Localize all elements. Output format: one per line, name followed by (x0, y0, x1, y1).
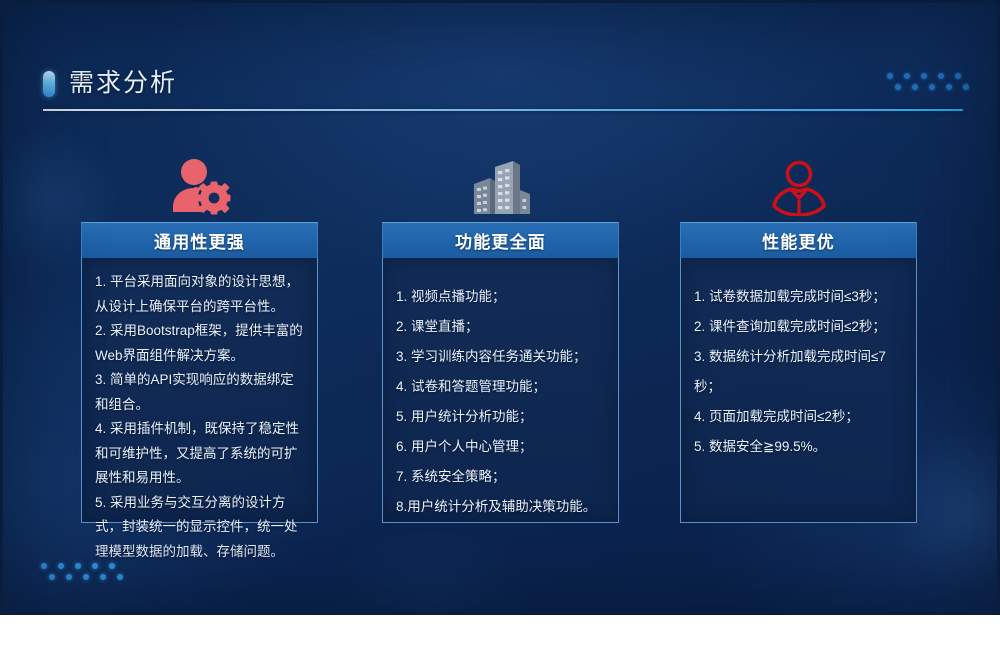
card-header: 性能更优 (680, 222, 917, 258)
card-text: 4. 采用插件机制，既保持了稳定性和可维护性，又提高了系统的可扩展性和易用性。 (95, 417, 304, 491)
card-text: 3. 简单的API实现响应的数据绑定和组合。 (95, 368, 304, 417)
decor-dot (58, 563, 64, 569)
decor-dot (41, 563, 47, 569)
decor-dot (83, 574, 89, 580)
card-text: 8.用户统计分析及辅助决策功能。 (396, 492, 605, 522)
card-body: 1. 试卷数据加载完成时间≤3秒； 2. 课件查询加载完成时间≤2秒； 3. 数… (680, 258, 917, 523)
card-text: 1. 平台采用面向对象的设计思想，从设计上确保平台的跨平台性。 (95, 270, 304, 319)
decor-dot (929, 84, 935, 90)
card-text: 5. 数据安全≧99.5%。 (694, 432, 903, 462)
card-header: 通用性更强 (81, 222, 318, 258)
card-text: 1. 视频点播功能； (396, 282, 605, 312)
card-text: 6. 用户个人中心管理； (396, 432, 605, 462)
decor-dot (117, 574, 123, 580)
decor-dot (49, 574, 55, 580)
card-text: 2. 采用Bootstrap框架，提供丰富的Web界面组件解决方案。 (95, 319, 304, 368)
card-text: 3. 数据统计分析加载完成时间≤7秒； (694, 342, 903, 402)
card-text: 4. 页面加载完成时间≤2秒； (694, 402, 903, 432)
card-text: 5. 采用业务与交互分离的设计方式，封装统一的显示控件，统一处理模型数据的加载、… (95, 491, 304, 565)
decor-dot (946, 84, 952, 90)
feature-card-generality: 通用性更强 1. 平台采用面向对象的设计思想，从设计上确保平台的跨平台性。 2.… (81, 222, 318, 523)
dot-grid-bottom-left (41, 563, 127, 585)
decor-dot (66, 574, 72, 580)
slide-canvas: 需求分析 (0, 0, 1000, 615)
decor-dot (955, 73, 961, 79)
card-title: 功能更全面 (455, 228, 546, 253)
decor-dot (938, 73, 944, 79)
header-divider (43, 109, 963, 111)
card-title: 性能更优 (762, 228, 835, 253)
card-title: 通用性更强 (154, 228, 245, 253)
card-text: 7. 系统安全策略； (396, 462, 605, 492)
decor-dot (921, 73, 927, 79)
card-body: 1. 视频点播功能； 2. 课堂直播； 3. 学习训练内容任务通关功能； 4. … (382, 258, 619, 523)
decor-dot (912, 84, 918, 90)
business-person-icon (680, 154, 917, 216)
user-settings-icon (81, 154, 318, 216)
decor-dot (904, 73, 910, 79)
title-marker-icon (43, 71, 55, 97)
card-text: 3. 学习训练内容任务通关功能； (396, 342, 605, 372)
office-buildings-icon (382, 154, 619, 216)
card-header: 功能更全面 (382, 222, 619, 258)
feature-card-features: 功能更全面 1. 视频点播功能； 2. 课堂直播； 3. 学习训练内容任务通关功… (382, 222, 619, 523)
card-text: 4. 试卷和答题管理功能； (396, 372, 605, 402)
card-body: 1. 平台采用面向对象的设计思想，从设计上确保平台的跨平台性。 2. 采用Boo… (81, 258, 318, 523)
decor-dot (963, 84, 969, 90)
card-text: 1. 试卷数据加载完成时间≤3秒； (694, 282, 903, 312)
background-glow-bottom (303, 533, 563, 615)
decor-dot (75, 563, 81, 569)
slide-header: 需求分析 (43, 63, 963, 113)
feature-card-performance: 性能更优 1. 试卷数据加载完成时间≤3秒； 2. 课件查询加载完成时间≤2秒；… (680, 222, 917, 523)
card-text: 5. 用户统计分析功能； (396, 402, 605, 432)
dot-grid-top-right (887, 73, 973, 95)
decor-dot (895, 84, 901, 90)
page-title: 需求分析 (69, 63, 177, 103)
decor-dot (887, 73, 893, 79)
card-text: 2. 课件查询加载完成时间≤2秒； (694, 312, 903, 342)
card-text: 2. 课堂直播； (396, 312, 605, 342)
decor-dot (100, 574, 106, 580)
